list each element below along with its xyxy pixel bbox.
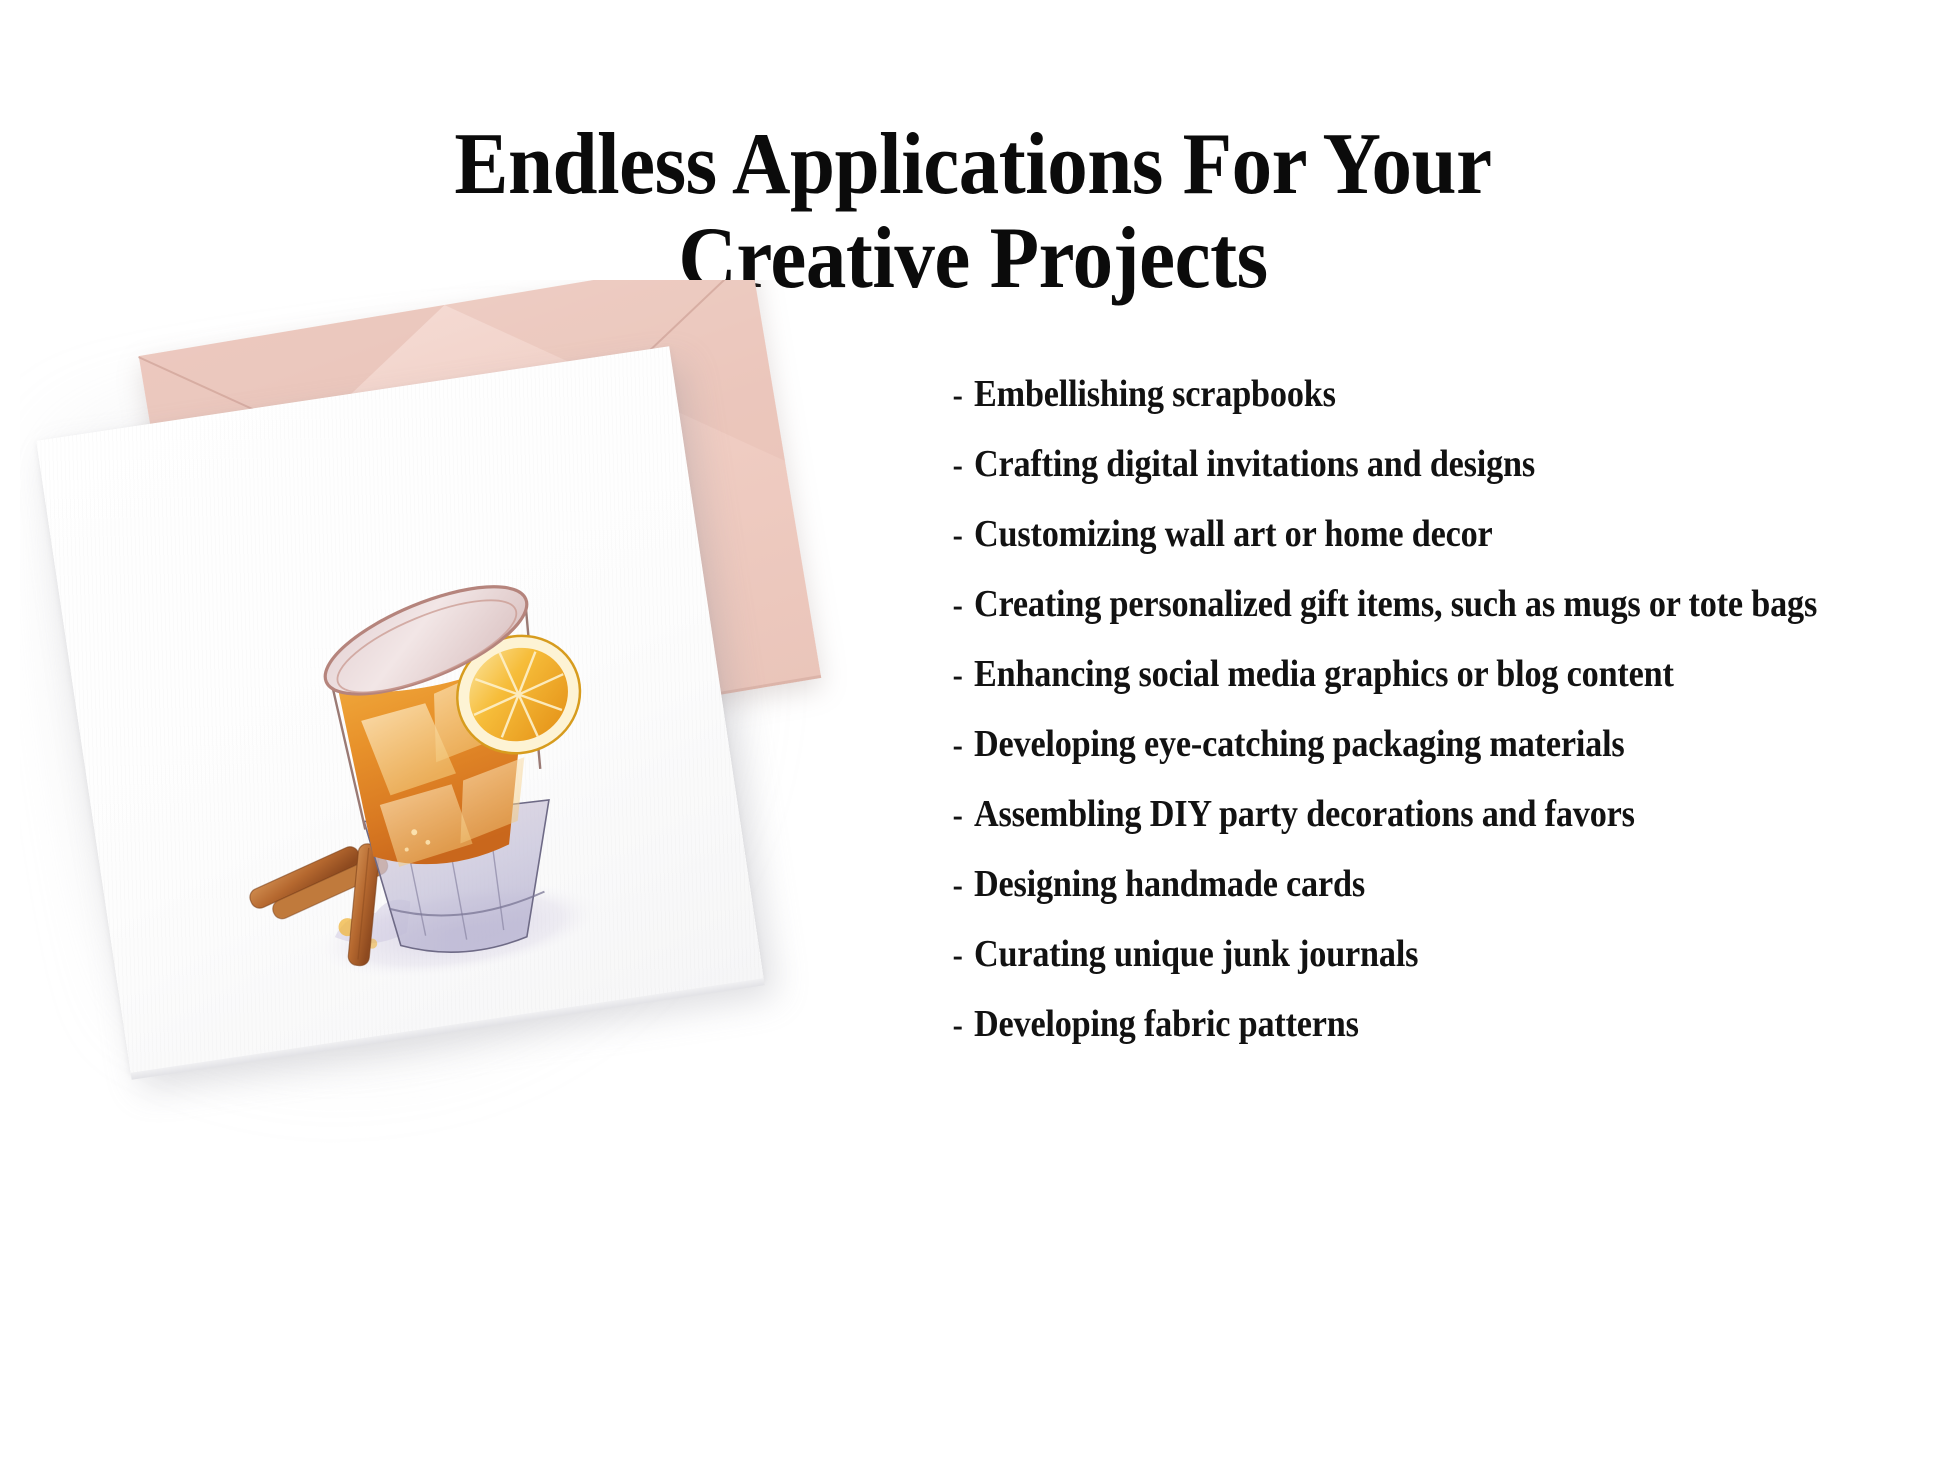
applications-list: - Embellishing scrapbooks - Crafting dig…: [952, 372, 1932, 1072]
page-title: Endless Applications For Your Creative P…: [0, 120, 1946, 304]
list-item-label: Developing eye-catching packaging materi…: [974, 722, 1625, 766]
list-item: - Developing fabric patterns: [952, 1002, 1932, 1046]
list-item: - Customizing wall art or home decor: [952, 512, 1932, 556]
list-item-label: Designing handmade cards: [974, 862, 1365, 906]
page-canvas: Endless Applications For Your Creative P…: [0, 0, 1946, 1460]
bullet-dash-icon: -: [953, 587, 963, 625]
bullet-dash-icon: -: [953, 517, 963, 555]
list-item-label: Embellishing scrapbooks: [974, 372, 1336, 416]
bullet-dash-icon: -: [953, 937, 963, 975]
product-mockup-image: [20, 280, 900, 1340]
bullet-dash-icon: -: [953, 797, 963, 835]
list-item-label: Creating personalized gift items, such a…: [974, 582, 1817, 626]
list-item-label: Assembling DIY party decorations and fav…: [974, 792, 1635, 836]
bullet-dash-icon: -: [953, 1007, 963, 1045]
list-item: - Enhancing social media graphics or blo…: [952, 652, 1932, 696]
list-item-label: Curating unique junk journals: [974, 932, 1418, 976]
bullet-dash-icon: -: [953, 377, 963, 415]
list-item-label: Customizing wall art or home decor: [974, 512, 1493, 556]
list-item-label: Enhancing social media graphics or blog …: [974, 652, 1674, 696]
title-line-1: Endless Applications For Your: [78, 120, 1868, 210]
list-item: - Designing handmade cards: [952, 862, 1932, 906]
list-item: - Creating personalized gift items, such…: [952, 582, 1932, 626]
bullet-dash-icon: -: [953, 447, 963, 485]
cocktail-illustration: [171, 528, 699, 1023]
list-item: - Embellishing scrapbooks: [952, 372, 1932, 416]
list-item-label: Developing fabric patterns: [974, 1002, 1359, 1046]
bullet-dash-icon: -: [953, 867, 963, 905]
list-item: - Crafting digital invitations and desig…: [952, 442, 1932, 486]
list-item-label: Crafting digital invitations and designs: [974, 442, 1535, 486]
bullet-dash-icon: -: [953, 657, 963, 695]
list-item: - Assembling DIY party decorations and f…: [952, 792, 1932, 836]
white-greeting-card: [36, 346, 764, 1074]
list-item: - Curating unique junk journals: [952, 932, 1932, 976]
list-item: - Developing eye-catching packaging mate…: [952, 722, 1932, 766]
bullet-dash-icon: -: [953, 727, 963, 765]
